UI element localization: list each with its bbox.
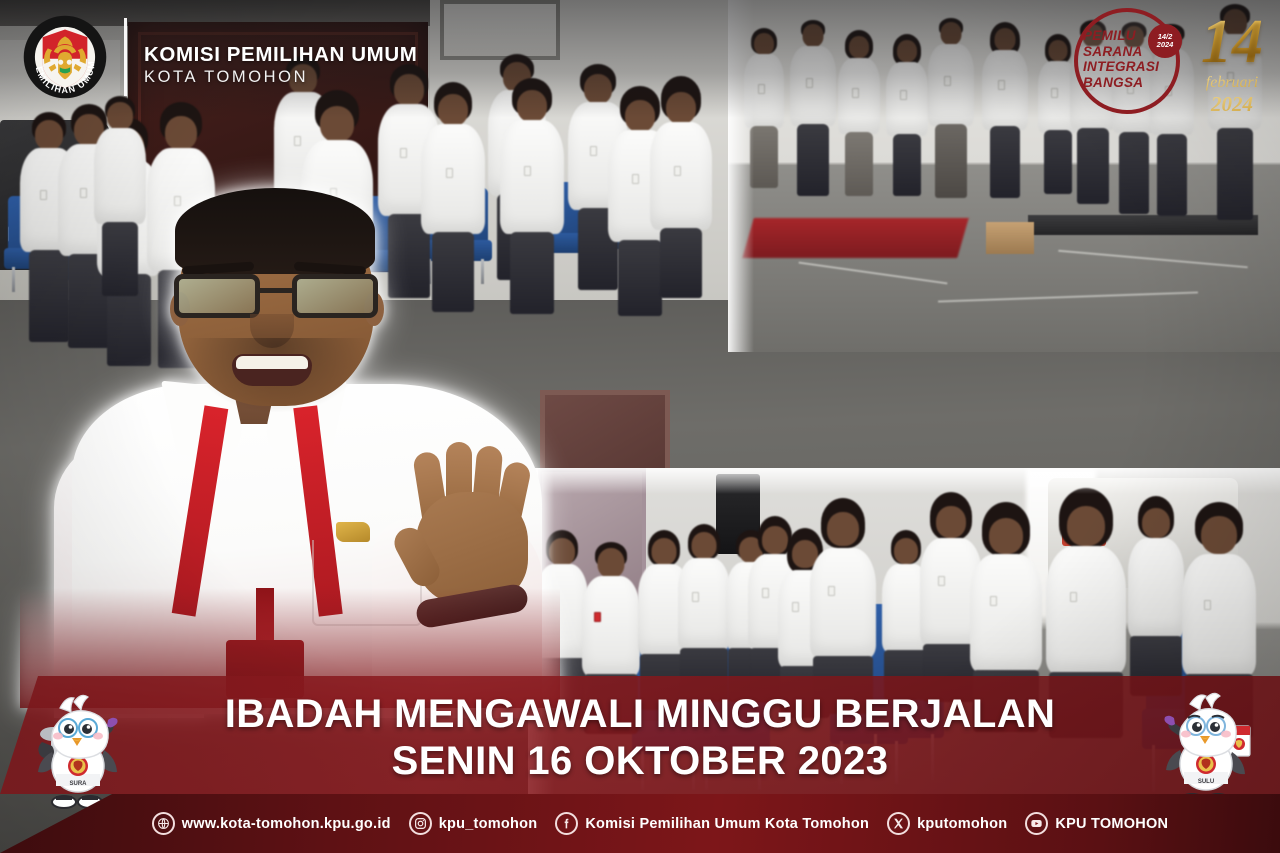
pemilu-campaign-stamp: PEMILU SARANA INTEGRASI BANGSA 14/2 2024 [1074, 8, 1180, 114]
stamp-line-4: BANGSA [1083, 75, 1175, 91]
facebook-icon [555, 812, 578, 835]
lens-left [174, 274, 260, 318]
social-label-website: www.kota-tomohon.kpu.go.id [182, 816, 391, 832]
mascot-shirt-label: SURA [69, 781, 87, 787]
glasses-bridge [260, 288, 294, 293]
stamp-date-badge: 14/2 2024 [1148, 24, 1182, 58]
youtube-icon [1025, 812, 1048, 835]
instagram-icon [409, 812, 432, 835]
header-text-group: KOMISI PEMILIHAN UMUM KOTA TOMOHON [144, 44, 417, 87]
election-year: 2024 [1186, 92, 1278, 117]
social-links: www.kota-tomohon.kpu.go.id kpu_tomohon K… [0, 794, 1280, 853]
stamp-line-3: INTEGRASI [1083, 59, 1175, 75]
social-label-instagram: kpu_tomohon [439, 816, 538, 832]
globe-icon [152, 812, 175, 835]
election-day-number: 14 [1186, 10, 1278, 74]
gesturing-hand [402, 440, 540, 610]
social-label-youtube: KPU TOMOHON [1055, 816, 1168, 832]
event-title-line1: IBADAH MENGAWALI MINGGU BERJALAN [0, 694, 1280, 735]
sulu-mascot: SULU [1152, 690, 1260, 808]
hair [175, 188, 375, 274]
event-title-line2: SENIN 16 OKTOBER 2023 [0, 741, 1280, 782]
election-date-mark: 14 februari 2024 [1186, 10, 1278, 120]
social-item-youtube[interactable]: KPU TOMOHON [1025, 812, 1168, 835]
sura-mascot: SURA [24, 692, 132, 810]
pocket-emblem-icon [336, 522, 370, 542]
social-item-x[interactable]: kputomohon [887, 812, 1007, 835]
staff-person [1126, 496, 1186, 696]
mouth-speaking [232, 354, 312, 386]
x-twitter-icon [887, 812, 910, 835]
poster-canvas: KOMISI PEMILIHAN UMUM KOMISI PEMILIHAN U… [0, 0, 1280, 853]
cardboard-box [986, 222, 1034, 254]
event-title-group: IBADAH MENGAWALI MINGGU BERJALAN SENIN 1… [0, 694, 1280, 782]
page-title: KOMISI PEMILIHAN UMUM [144, 44, 417, 66]
social-label-x: kputomohon [917, 816, 1007, 832]
social-label-facebook: Komisi Pemilihan Umum Kota Tomohon [585, 816, 869, 832]
mascot-shirt-label: SULU [1198, 779, 1214, 785]
header-divider [124, 18, 127, 96]
red-carpet [742, 218, 968, 258]
speaker-cutout [20, 188, 560, 708]
social-item-facebook[interactable]: Komisi Pemilihan Umum Kota Tomohon [555, 812, 869, 835]
kpu-logo-garuda-icon: KOMISI PEMILIHAN UMUM [22, 14, 108, 100]
social-item-instagram[interactable]: kpu_tomohon [409, 812, 538, 835]
election-month: februari [1186, 74, 1278, 92]
page-subtitle: KOTA TOMOHON [144, 68, 417, 87]
teeth [236, 356, 308, 369]
lens-right [292, 274, 378, 318]
social-item-website[interactable]: www.kota-tomohon.kpu.go.id [152, 812, 391, 835]
stamp-date-year: 2024 [1157, 41, 1174, 50]
